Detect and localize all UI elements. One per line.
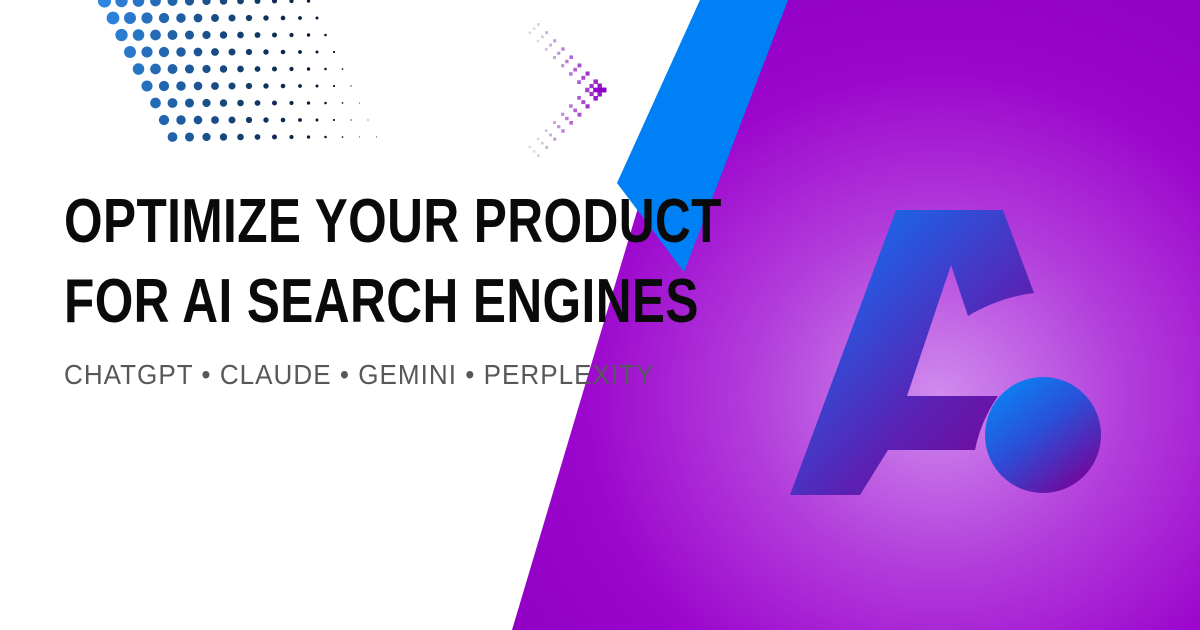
headline-block: OPTIMIZE YOUR PRODUCT FOR AI SEARCH ENGI… bbox=[64, 182, 604, 392]
halftone-top-left bbox=[89, 0, 377, 142]
page-title: OPTIMIZE YOUR PRODUCT FOR AI SEARCH ENGI… bbox=[64, 182, 496, 342]
banner-canvas: OPTIMIZE YOUR PRODUCT FOR AI SEARCH ENGI… bbox=[0, 0, 1200, 630]
headline-line-2: FOR AI SEARCH ENGINES bbox=[64, 262, 496, 342]
logo-dot-icon bbox=[985, 377, 1101, 493]
halftone-chevron-icon bbox=[529, 23, 607, 157]
headline-line-1: OPTIMIZE YOUR PRODUCT bbox=[64, 182, 496, 262]
subtitle: CHATGPT • CLAUDE • GEMINI • PERPLEXITY bbox=[64, 342, 566, 392]
logo-letter-a bbox=[790, 210, 1034, 495]
